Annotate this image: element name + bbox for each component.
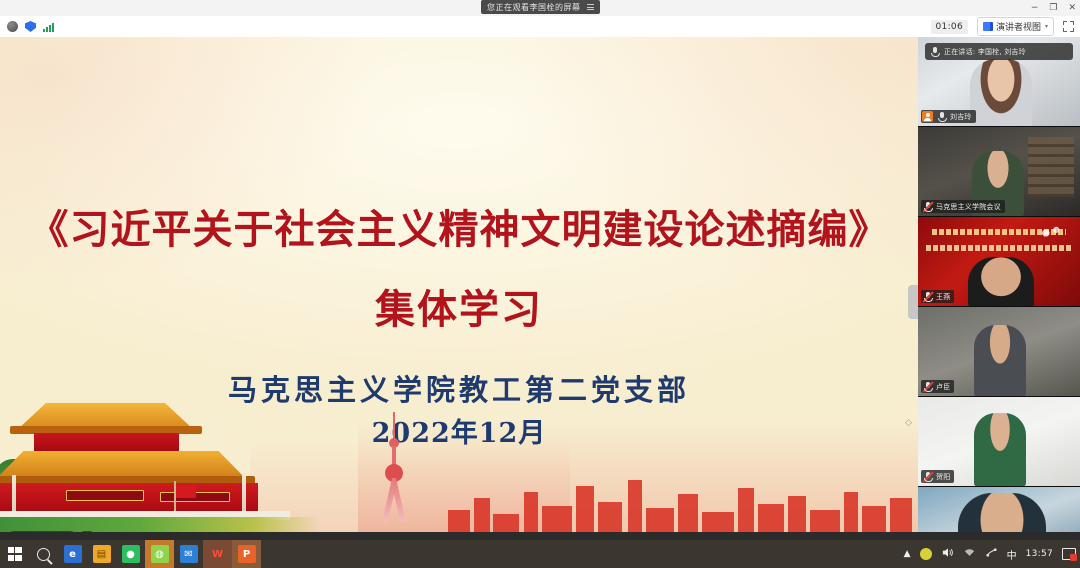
system-tray: ▲ 中 13:57 [904,540,1080,568]
tower-legs [382,478,406,522]
host-badge-icon [922,111,933,122]
windows-taskbar: e ▤ ● ◍ ✉ W P ▲ [0,540,1080,568]
person-silhouette-4 [974,413,1026,487]
windows-logo-icon [8,547,22,561]
participant-name-0: 刘吉玲 [950,112,972,122]
meeting-chrome-bar: 01:06 演讲者视图 ▾ [0,16,1080,37]
browser-icon: e [64,545,82,563]
tiananmen-illustration [0,397,320,532]
wps-presentation-icon: P [238,545,256,563]
ime-indicator[interactable]: 中 [1007,547,1017,562]
participant-tile-4[interactable]: 贺阳 [918,397,1080,487]
notification-icon[interactable] [1062,548,1076,560]
file-explorer-icon: ▤ [93,545,111,563]
national-flag [176,485,196,498]
banner-text-line2 [926,245,1072,251]
screen-share-toast: 您正在观看李国栓的屏幕 [481,0,600,14]
restore-button[interactable]: ❐ [1049,4,1057,13]
start-button[interactable] [0,540,29,568]
taskbar-app-wechat[interactable]: ● [116,540,145,568]
top-system-bar: 您正在观看李国栓的屏幕 − ❐ ✕ [0,0,1080,16]
microphone-muted-icon [922,381,933,392]
microphone-muted-icon [922,291,933,302]
upper-body [34,433,179,453]
taskbar-clock[interactable]: 13:57 [1026,549,1053,559]
taskbar-app-mail[interactable]: ✉ [174,540,203,568]
city-skyline-illustration [438,470,918,532]
participant-strip: 正在讲话: 李国栓, 刘吉玲 刘吉玲 马克思主义学院会议 [918,37,1080,532]
left-plaque [66,490,144,501]
wechat-icon: ● [122,545,140,563]
active-speaker-banner: 正在讲话: 李国栓, 刘吉玲 [925,43,1073,60]
participant-tile-2[interactable]: 王燕 [918,217,1080,307]
participant-tile-1[interactable]: 马克思主义学院会议 [918,127,1080,217]
panel-collapse-handle[interactable] [908,285,918,319]
shared-screen-stage[interactable]: 《习近平关于社会主义精神文明建设论述摘编》 集体学习 马克思主义学院教工第二党支… [0,37,918,532]
person-silhouette-3 [974,325,1026,397]
taskbar-app-qq[interactable]: ◍ [145,540,174,568]
view-mode-selector[interactable]: 演讲者视图 ▾ [977,17,1054,36]
participant-name-2: 王燕 [936,292,950,302]
taskbar-app-wps-ppt[interactable]: P [232,540,261,568]
chat-collapse-button[interactable]: ‹ [81,531,92,532]
toast-text: 您正在观看李国栓的屏幕 [487,2,581,13]
slide-chat-bar: 说点什么... ‹ [6,529,93,532]
lower-roof [0,451,246,479]
network-signal-icon[interactable] [43,22,54,32]
meeting-screen-share-window: 您正在观看李国栓的屏幕 − ❐ ✕ 01:06 演讲者视图 ▾ [0,0,1080,568]
microphone-muted-icon [922,471,933,482]
doves-decoration [1038,225,1064,241]
oriental-pearl-tower-illustration [378,412,410,524]
volume-icon[interactable] [941,546,954,562]
security-shield-icon[interactable] [920,548,932,560]
participant-name-chip-4: 贺阳 [921,470,954,483]
menu-lines-icon[interactable] [587,4,594,10]
fullscreen-icon[interactable] [1063,21,1074,32]
wifi-icon[interactable] [963,546,976,562]
meeting-timer: 01:06 [931,20,968,34]
panel-resize-dot[interactable]: ◇ [905,418,915,428]
slide-title-line2: 集体学习 [0,277,918,335]
participant-name-4: 贺阳 [936,472,950,482]
participant-tile-0[interactable]: 正在讲话: 李国栓, 刘吉玲 刘吉玲 [918,37,1080,127]
person-silhouette-0 [970,59,1032,127]
taskbar-search-button[interactable] [29,540,58,568]
taskbar-app-explorer[interactable]: ▤ [87,540,116,568]
slide-title-line1: 《习近平关于社会主义精神文明建设论述摘编》 [0,197,918,255]
mail-icon: ✉ [180,545,198,563]
close-button[interactable]: ✕ [1068,4,1076,13]
taskbar-items: e ▤ ● ◍ ✉ W P [0,540,261,568]
taskbar-app-wps-writer[interactable]: W [203,540,232,568]
microphone-icon [929,46,940,57]
person-silhouette-2 [968,257,1034,307]
participant-name-chip-3: 卢臣 [921,380,954,393]
record-dot-icon[interactable] [7,21,18,32]
chat-input-pill[interactable]: 说点什么... [6,531,78,533]
participant-name-chip-1: 马克思主义学院会议 [921,200,1005,213]
chrome-status-icons [0,21,54,32]
window-controls: − ❐ ✕ [1031,0,1076,16]
sync-icon[interactable] [985,546,998,562]
tray-expand-icon[interactable]: ▲ [904,549,911,559]
participant-name-3: 卢臣 [936,382,950,392]
view-mode-label: 演讲者视图 [996,20,1041,33]
microphone-muted-icon [922,201,933,212]
participant-tile-3[interactable]: 卢臣 [918,307,1080,397]
participant-name-1: 马克思主义学院会议 [936,202,1001,212]
minimize-button[interactable]: − [1031,4,1039,13]
participant-name-chip-2: 王燕 [921,290,954,303]
chevron-down-icon: ▾ [1045,23,1048,30]
participant-name-chip-0: 刘吉玲 [921,110,976,123]
taskbar-app-browser[interactable]: e [58,540,87,568]
shield-icon[interactable] [25,21,36,32]
speaker-view-icon [983,22,992,31]
wps-writer-icon: W [209,545,227,563]
slide-wash-left [0,37,420,317]
chrome-right-controls: 01:06 演讲者视图 ▾ [931,16,1074,37]
bookshelf-shape [1028,137,1074,197]
qq-icon: ◍ [151,545,169,563]
microphone-icon [936,111,947,122]
search-icon [37,548,50,561]
active-speaker-text: 正在讲话: 李国栓, 刘吉玲 [944,47,1026,57]
